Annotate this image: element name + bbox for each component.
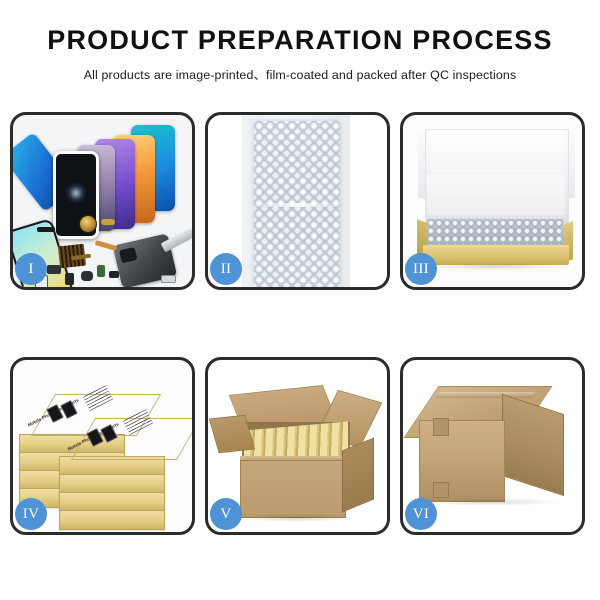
coil-part-icon	[79, 215, 97, 233]
carton-tape-patch-top	[433, 418, 449, 436]
step-badge-ii: II	[210, 253, 242, 285]
stacked-box	[59, 492, 165, 512]
process-step-v: V	[205, 357, 390, 535]
spare-part-icon	[97, 265, 105, 277]
process-step-ii: II	[205, 112, 390, 290]
page-title: PRODUCT PREPARATION PROCESS	[0, 26, 600, 56]
spare-part-icon	[47, 265, 61, 274]
carton-tape-patch-bottom	[433, 482, 449, 498]
spare-part-icon	[65, 273, 74, 285]
step-badge-i: I	[15, 253, 47, 285]
spare-part-icon	[101, 219, 115, 225]
bubble-wrap-contents-icon	[427, 219, 563, 247]
step-badge-iii: III	[405, 253, 437, 285]
spare-part-icon	[109, 271, 119, 278]
page-header: PRODUCT PREPARATION PROCESS All products…	[0, 0, 600, 83]
spare-part-icon	[81, 271, 93, 281]
carton-front-face	[419, 420, 505, 502]
carton-side-face	[502, 394, 564, 496]
step-badge-iv: IV	[15, 498, 47, 530]
product-preparation-process-page: PRODUCT PREPARATION PROCESS All products…	[0, 0, 600, 600]
drop-shadow	[419, 263, 571, 270]
carton-tape-seam	[435, 392, 535, 398]
stacked-box	[59, 510, 165, 530]
carton-front-face	[240, 460, 346, 518]
step-badge-vi: VI	[405, 498, 437, 530]
process-step-vi: VI	[400, 357, 585, 535]
page-subtitle: All products are image-printed、film-coat…	[0, 65, 600, 83]
drop-shadow	[234, 514, 358, 522]
process-step-iv: Mobile Phone Spare Parts Mobile Phone Sp…	[10, 357, 195, 535]
bubble-wrap-seam	[254, 203, 340, 207]
step-badge-v: V	[210, 498, 242, 530]
flex-cable-icon	[95, 240, 118, 251]
foam-insert	[427, 175, 565, 215]
drop-shadow	[419, 498, 561, 506]
stacked-box	[59, 474, 165, 494]
process-step-iii: III	[400, 112, 585, 290]
tweezers-icon	[161, 228, 192, 253]
spare-part-icon	[161, 275, 176, 283]
process-step-grid: I II III	[10, 112, 590, 535]
carton-side-face	[342, 438, 374, 513]
process-step-i: I	[10, 112, 195, 290]
spare-part-icon	[37, 227, 55, 232]
yellow-box-front	[423, 245, 569, 265]
